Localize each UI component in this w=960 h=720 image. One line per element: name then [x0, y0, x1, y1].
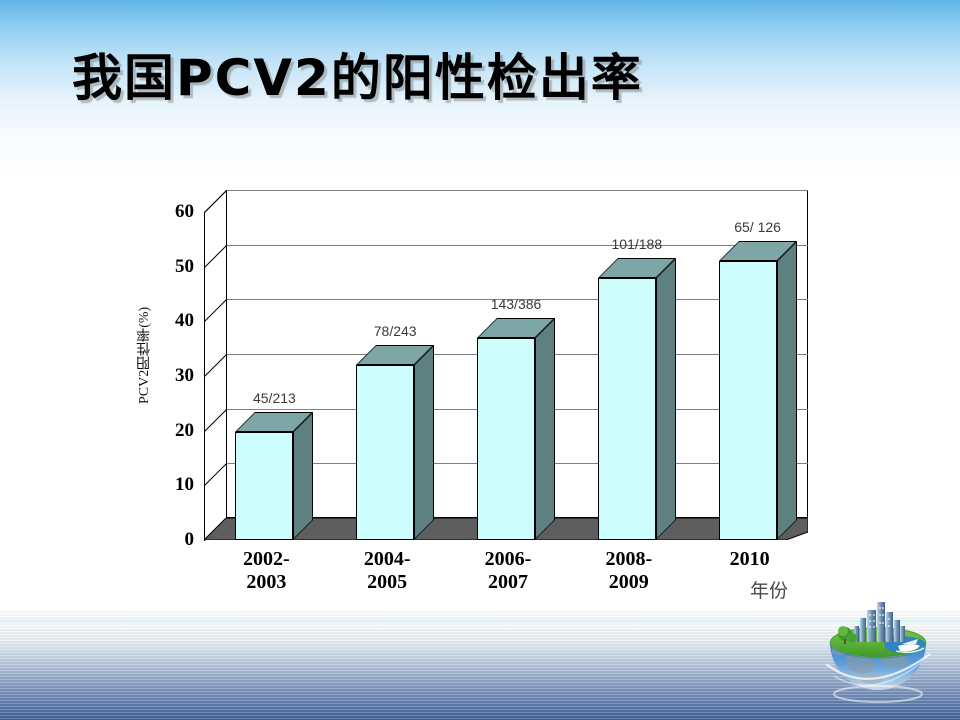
bar-column: [477, 318, 535, 540]
bar-column: [719, 241, 777, 540]
x-tick-line: 2010: [730, 548, 770, 571]
bar-side-face: [777, 241, 797, 540]
x-tick-label: 2006-2007: [485, 548, 532, 594]
bar-side-face: [535, 318, 555, 540]
bar-data-label: 101/188: [611, 236, 662, 252]
bar-data-label: 78/243: [374, 323, 417, 339]
y-tick-label: 20: [175, 420, 194, 442]
x-tick-line: 2009: [605, 571, 652, 594]
tick-depth-connector: [204, 299, 227, 322]
x-tick-label: 2002-2003: [243, 548, 290, 594]
y-tick-label: 30: [175, 365, 194, 387]
tick-depth-connector: [204, 463, 227, 486]
bar-front-face: [477, 338, 535, 540]
bar-data-label: 45/213: [253, 390, 296, 406]
x-tick-line: 2003: [243, 571, 290, 594]
x-tick-label: 2004-2005: [364, 548, 411, 594]
x-tick-label: 2010: [730, 548, 770, 571]
x-tick-line: 2006-: [485, 548, 532, 571]
x-tick-line: 2008-: [605, 548, 652, 571]
x-tick-line: 2004-: [364, 548, 411, 571]
bar-side-face: [656, 258, 676, 540]
x-tick-line: 2007: [485, 571, 532, 594]
plot-area: 0102030405060 45/21378/243143/386101/188…: [204, 190, 808, 530]
y-axis-label: PCV2阳性率(%): [134, 240, 156, 470]
x-tick-line: 2005: [364, 571, 411, 594]
bar-column: [356, 345, 414, 540]
y-tick-label: 50: [175, 256, 194, 278]
globe-city-icon: [812, 598, 944, 708]
y-tick-label: 60: [175, 201, 194, 223]
bar-column: [598, 258, 656, 540]
tick-depth-connector: [204, 245, 227, 268]
tick-depth-connector: [204, 190, 227, 213]
bar-front-face: [356, 365, 414, 540]
x-tick-line: 2002-: [243, 548, 290, 571]
bar-column: [235, 412, 293, 540]
y-tick-label: 40: [175, 310, 194, 332]
bar-front-face: [235, 432, 293, 540]
page-title: 我国PCV2的阳性检出率: [72, 38, 643, 110]
bar-data-label: 65/ 126: [734, 219, 781, 235]
bar-front-face: [719, 261, 777, 540]
x-axis-label: 年份: [750, 576, 788, 603]
x-tick-label: 2008-2009: [605, 548, 652, 594]
tick-depth-connector: [204, 354, 227, 377]
bar-front-face: [598, 278, 656, 540]
slide-background: 我国PCV2的阳性检出率 PCV2阳性率(%) 0102030405060 45…: [0, 0, 960, 720]
bar-side-face: [414, 345, 434, 540]
y-tick-label: 0: [185, 529, 195, 551]
gridline: [227, 190, 808, 191]
bar-data-label: 143/386: [491, 296, 542, 312]
bar-chart: PCV2阳性率(%) 0102030405060 45/21378/243143…: [136, 180, 826, 600]
tick-depth-connector: [204, 409, 227, 432]
bar-side-face: [293, 412, 313, 540]
y-tick-label: 10: [175, 474, 194, 496]
